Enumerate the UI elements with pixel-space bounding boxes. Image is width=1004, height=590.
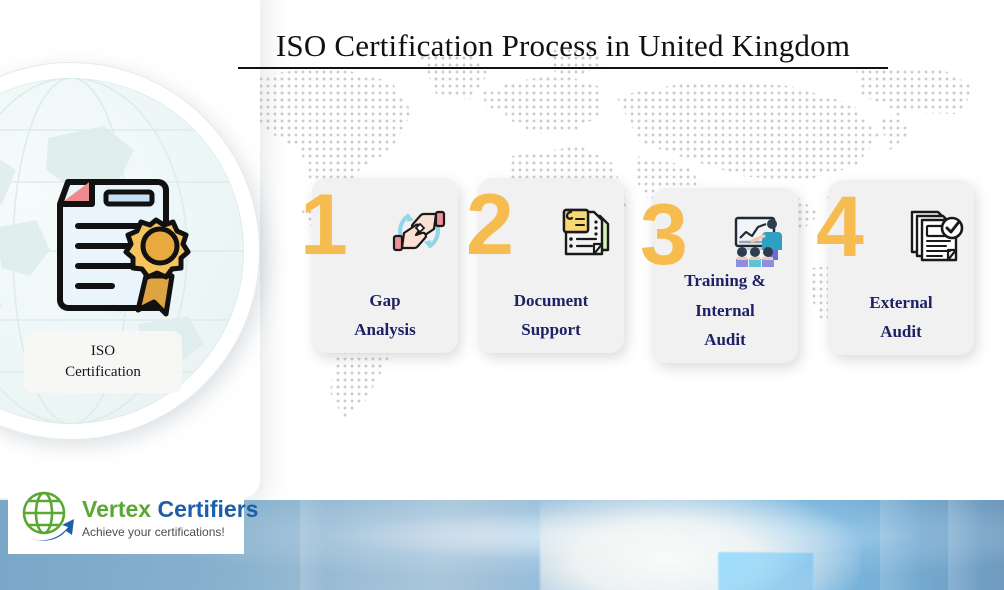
- logo-name: Vertex Certifiers: [82, 497, 258, 521]
- step-card-3[interactable]: 3: [652, 188, 798, 363]
- documents-check-icon: [904, 202, 966, 264]
- process-steps: 1 Gap Analysis 2: [0, 0, 1004, 500]
- step-label-1-line2: Analysis: [312, 315, 458, 344]
- step-label-1: Gap Analysis: [312, 286, 458, 344]
- step-label-1-line1: Gap: [312, 286, 458, 315]
- handshake-circle-icon: [388, 200, 450, 262]
- band-streak: [948, 500, 982, 590]
- step-label-4: External Audit: [828, 288, 974, 346]
- step-label-3-line3: Audit: [652, 325, 798, 354]
- step-label-3-line2: Internal: [652, 296, 798, 325]
- page-title: ISO Certification Process in United King…: [238, 28, 888, 69]
- training-presentation-icon: [728, 210, 790, 272]
- step-label-2-line1: Document: [478, 286, 624, 315]
- step-card-4[interactable]: 4: [828, 180, 974, 355]
- step-label-4-line1: External: [828, 288, 974, 317]
- band-streak: [300, 500, 326, 590]
- step-number-2: 2: [466, 182, 512, 268]
- step-card-2[interactable]: 2: [478, 178, 624, 353]
- step-card-1[interactable]: 1 Gap Analysis: [312, 178, 458, 353]
- step-label-2-line2: Support: [478, 315, 624, 344]
- step-label-4-line2: Audit: [828, 317, 974, 346]
- document-support-icon: [554, 200, 616, 262]
- step-label-3-line1: Training &: [652, 266, 798, 295]
- touch-glow: [718, 552, 814, 590]
- step-number-3: 3: [640, 192, 686, 278]
- band-streak: [880, 500, 920, 590]
- logo-tagline: Achieve your certifications!: [82, 522, 258, 539]
- infographic-canvas: ISO Certification Process in United King…: [0, 0, 1004, 590]
- step-label-2: Document Support: [478, 286, 624, 344]
- logo-name-vertex: Vertex: [82, 496, 151, 522]
- globe-arrow-logo-icon: [16, 487, 78, 549]
- logo-name-certifiers: Certifiers: [157, 496, 258, 522]
- step-label-3: Training & Internal Audit: [652, 266, 798, 354]
- logo-text: Vertex Certifiers Achieve your certifica…: [78, 497, 258, 538]
- step-number-4: 4: [816, 184, 862, 270]
- step-number-1: 1: [300, 182, 346, 268]
- brand-logo[interactable]: Vertex Certifiers Achieve your certifica…: [8, 482, 244, 554]
